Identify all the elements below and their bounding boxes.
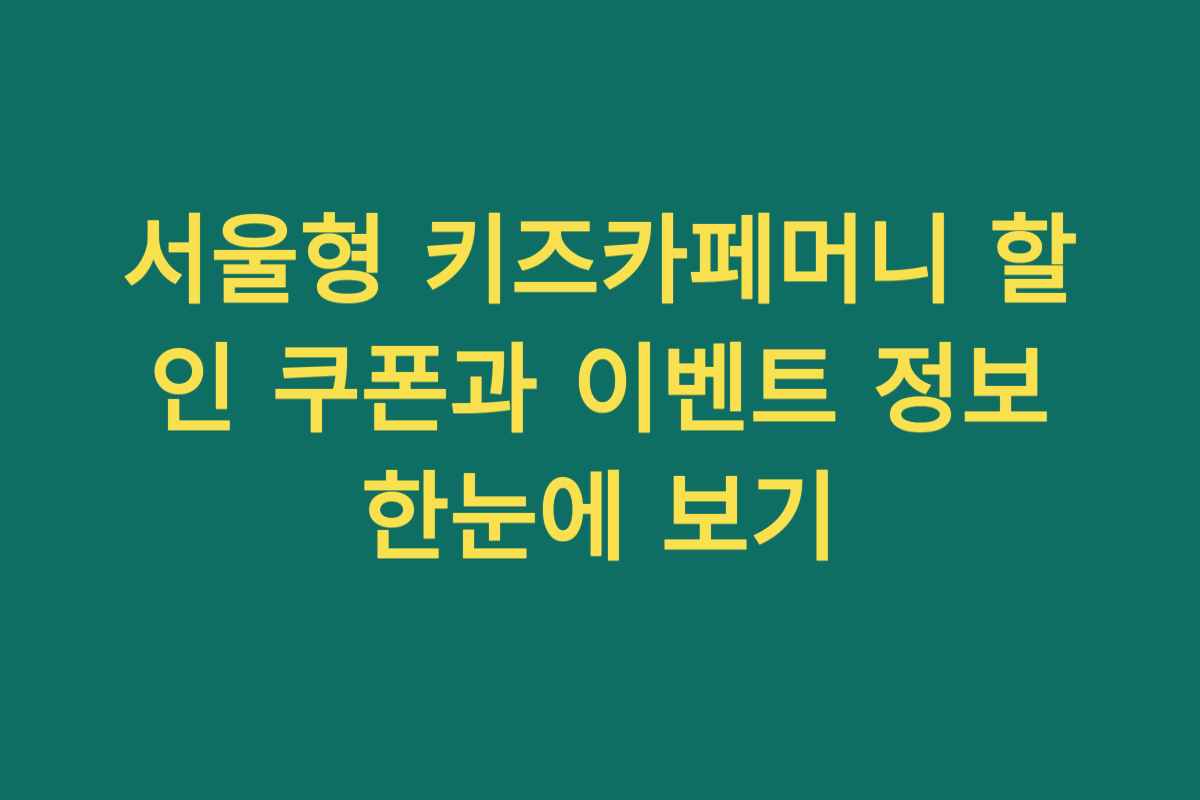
banner-title-line-1: 서울형 키즈카페머니 할 bbox=[36, 197, 1164, 326]
banner-title-line-3: 한눈에 보기 bbox=[36, 454, 1164, 583]
title-banner: 서울형 키즈카페머니 할 인 쿠폰과 이벤트 정보 한눈에 보기 bbox=[0, 0, 1200, 800]
banner-title-block: 서울형 키즈카페머니 할 인 쿠폰과 이벤트 정보 한눈에 보기 bbox=[0, 197, 1200, 583]
banner-title-line-2: 인 쿠폰과 이벤트 정보 bbox=[36, 326, 1164, 455]
